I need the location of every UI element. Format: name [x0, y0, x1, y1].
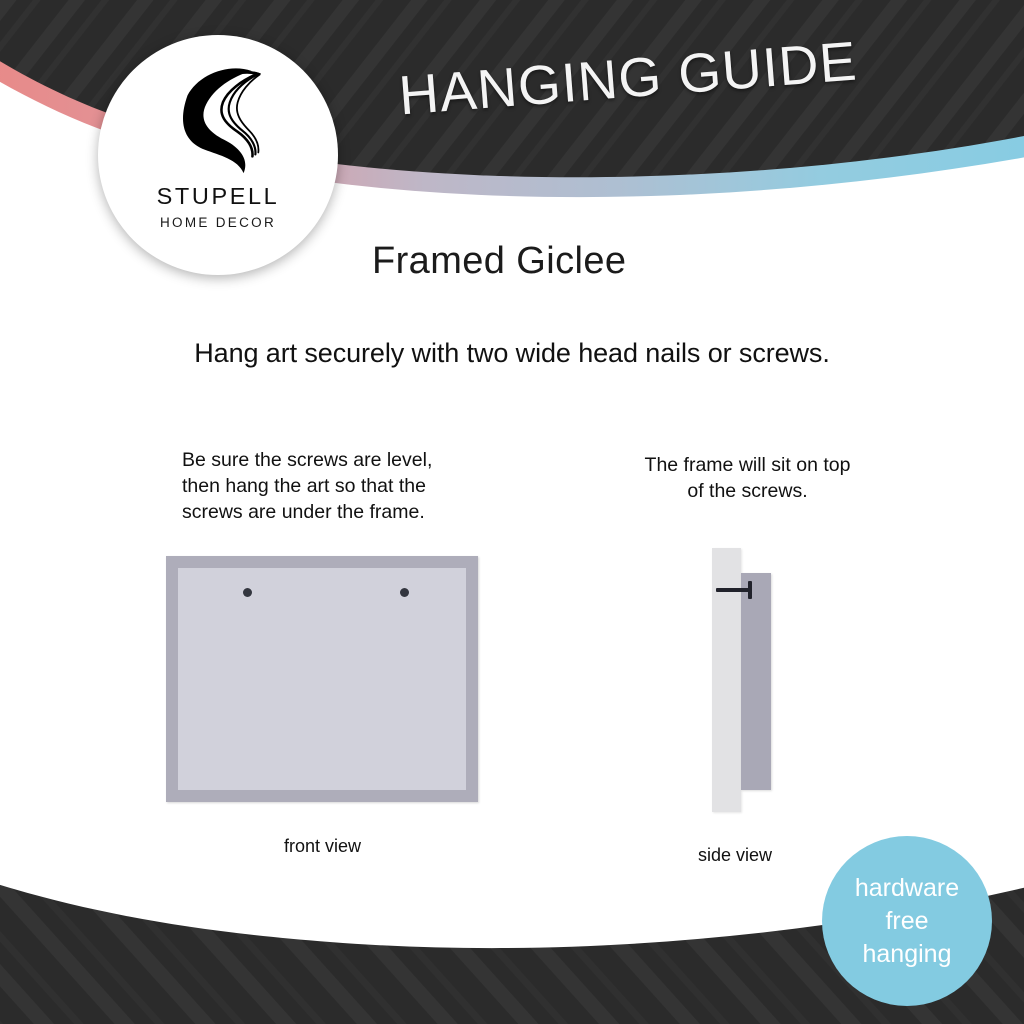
page-title: HANGING GUIDE — [376, 27, 879, 129]
side-view-caption: The frame will sit on top of the screws. — [600, 452, 895, 504]
screw-dot-left-icon — [243, 588, 252, 597]
side-view-label: side view — [640, 845, 830, 866]
frame-mat — [178, 568, 466, 790]
product-type-title: Framed Giclee — [372, 240, 626, 283]
brand-tagline: HOME DECOR — [160, 215, 276, 230]
front-view-caption-line-2: then hang the art so that the — [182, 473, 482, 499]
front-view-frame-diagram — [166, 556, 478, 802]
hardware-free-hanging-badge: hardware free hanging — [822, 836, 992, 1006]
badge-line-1: hardware — [855, 872, 959, 905]
front-view-caption-line-1: Be sure the screws are level, — [182, 447, 482, 473]
stupell-s-swoosh-icon — [159, 61, 277, 179]
side-view-frame — [741, 573, 771, 790]
front-view-caption-line-3: screws are under the frame. — [182, 499, 482, 525]
side-view-caption-line-2: of the screws. — [600, 478, 895, 504]
front-view-label: front view — [200, 836, 445, 857]
brand-logo-badge: STUPELL HOME DECOR — [98, 35, 338, 275]
badge-line-2: free — [885, 905, 928, 938]
side-view-screw-head-icon — [748, 581, 752, 599]
badge-line-3: hanging — [863, 938, 952, 971]
front-view-caption: Be sure the screws are level, then hang … — [182, 447, 482, 525]
side-view-caption-line-1: The frame will sit on top — [600, 452, 895, 478]
hanging-guide-infographic: STUPELL HOME DECOR HANGING GUIDE Framed … — [0, 0, 1024, 1024]
screw-dot-right-icon — [400, 588, 409, 597]
side-view-screw-shaft-icon — [716, 588, 752, 592]
brand-name: STUPELL — [157, 183, 280, 210]
main-instruction-text: Hang art securely with two wide head nai… — [0, 338, 1024, 369]
